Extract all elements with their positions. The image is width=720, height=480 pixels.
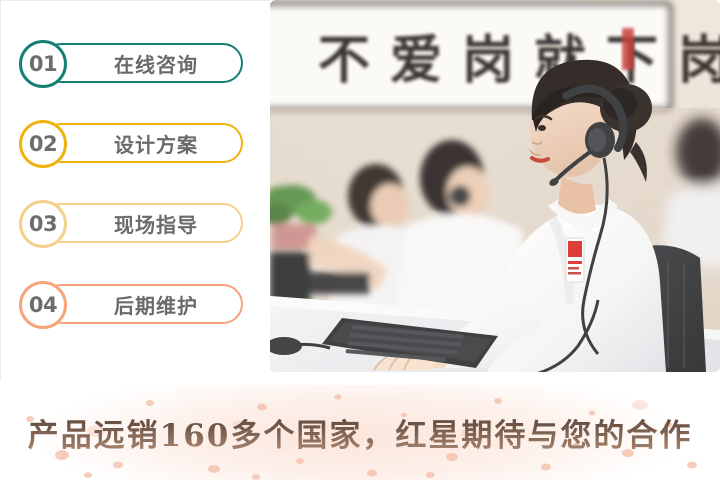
step-circle-04: 04 — [19, 281, 67, 329]
step-number-04: 04 — [29, 295, 57, 316]
slogan-text: 产品远销160多个国家，红星期待与您的合作 — [0, 385, 720, 480]
step-item-03[interactable]: 现场指导 03 — [19, 200, 243, 246]
step-item-04[interactable]: 后期维护 04 — [19, 281, 243, 327]
step-item-01[interactable]: 在线咨询 01 — [19, 40, 243, 86]
step-circle-01: 01 — [19, 40, 67, 88]
page-root: 在线咨询 01 设计方案 02 现场指导 03 后期维护 04 — [0, 0, 720, 480]
step-circle-02: 02 — [19, 120, 67, 168]
step-number-01: 01 — [29, 54, 57, 75]
step-label-01: 在线咨询 — [81, 40, 231, 86]
step-label-04: 后期维护 — [81, 281, 231, 327]
step-circle-03: 03 — [19, 200, 67, 248]
step-label-02: 设计方案 — [81, 120, 231, 166]
call-center-photo: 不爱岗就下岗 — [270, 0, 720, 372]
step-item-02[interactable]: 设计方案 02 — [19, 120, 243, 166]
step-number-03: 03 — [29, 214, 57, 235]
slogan-banner: 产品远销160多个国家，红星期待与您的合作 — [0, 385, 720, 480]
call-center-photo-image: 不爱岗就下岗 — [270, 0, 720, 372]
steps-panel: 在线咨询 01 设计方案 02 现场指导 03 后期维护 04 — [0, 0, 270, 380]
step-number-02: 02 — [29, 134, 57, 155]
step-label-03: 现场指导 — [81, 200, 231, 246]
